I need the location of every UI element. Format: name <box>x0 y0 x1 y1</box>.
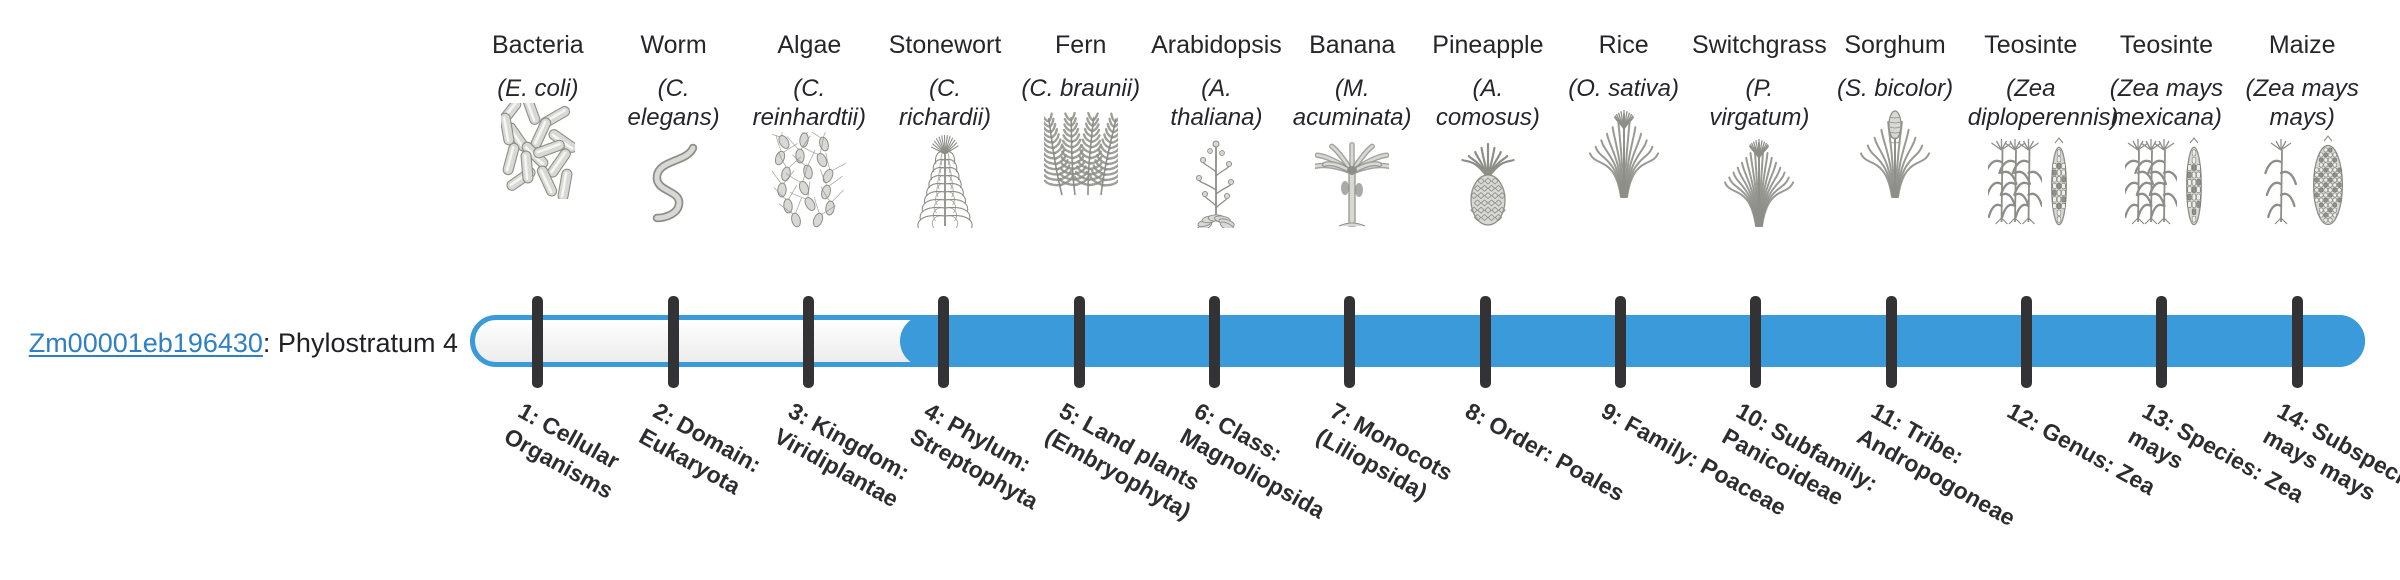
rank-text: Cellular Organisms <box>500 410 624 503</box>
rank-number: 3: <box>784 397 814 430</box>
taxonomic-rank-labels: 1: Cellular Organisms2: Domain: Eukaryot… <box>470 0 2365 580</box>
gene-id-link[interactable]: Zm00001eb196430 <box>29 328 263 358</box>
phylostratum-visualization: Zm00001eb196430: Phylostratum 4 Bacteria… <box>0 0 2400 580</box>
phylostratum-text: Phylostratum 4 <box>278 328 458 358</box>
gene-label-separator: : <box>263 328 278 358</box>
rank-number: 12: <box>2003 397 2045 436</box>
rank-number: 9: <box>1597 397 1627 430</box>
rank-number: 8: <box>1461 397 1491 430</box>
gene-phylostratum-label: Zm00001eb196430: Phylostratum 4 <box>0 327 458 359</box>
